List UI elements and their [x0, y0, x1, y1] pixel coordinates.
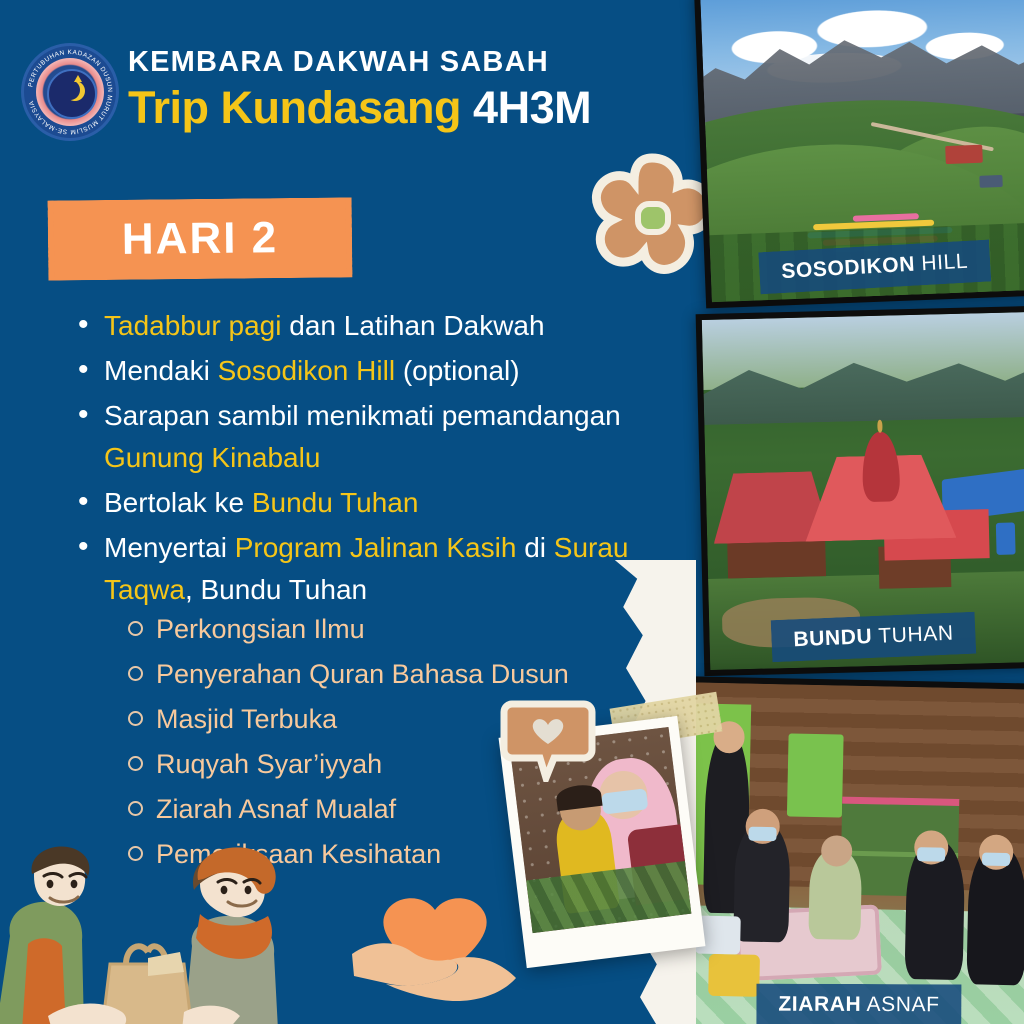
program-subitem: Penyerahan Quran Bahasa Dusun: [128, 653, 648, 695]
ziarah-asnaf-image: [686, 682, 1024, 1024]
crescent-star-icon: [60, 80, 80, 100]
agenda-plain: , Bundu Tuhan: [185, 574, 367, 605]
agenda-item: •Menyertai Program Jalinan Kasih di Sura…: [78, 527, 638, 611]
caption-light: ASNAF: [867, 993, 940, 1016]
agenda-item-text: Tadabbur pagi dan Latihan Dakwah: [104, 305, 545, 347]
hollow-bullet-icon: [128, 608, 156, 650]
agenda-plain: dan Latihan Dakwah: [281, 310, 544, 341]
agenda-plain: (optional): [395, 355, 520, 386]
program-subitem: Perkongsian Ilmu: [128, 608, 648, 650]
flower-icon: [588, 152, 716, 284]
caption-bold: ZIARAH: [778, 993, 861, 1016]
caption-light: HILL: [921, 250, 969, 276]
hollow-bullet-icon: [128, 653, 156, 695]
pdmms-logo: PERTUBUHAN KADAZAN DUSUN MURUT MUSLIM SE…: [24, 46, 116, 138]
page-title: Trip Kundasang 4H3M: [128, 85, 688, 130]
hand-holding-heart-icon: [350, 892, 520, 1016]
hollow-bullet-icon: [128, 743, 156, 785]
bullet-icon: •: [78, 350, 104, 390]
hollow-bullet-icon: [128, 788, 156, 830]
title-block: KEMBARA DAKWAH SABAH Trip Kundasang 4H3M: [128, 48, 688, 130]
organization-kicker: KEMBARA DAKWAH SABAH: [128, 48, 688, 77]
agenda-item: •Bertolak ke Bundu Tuhan: [78, 482, 638, 524]
agenda-highlight: Program Jalinan Kasih: [235, 532, 517, 563]
program-subitem-label: Ruqyah Syar’iyyah: [156, 743, 382, 785]
agenda-item-text: Menyertai Program Jalinan Kasih di Surau…: [104, 527, 638, 611]
bullet-icon: •: [78, 395, 104, 435]
program-subitem-label: Ziarah Asnaf Mualaf: [156, 788, 396, 830]
agenda-highlight: Sosodikon Hill: [218, 355, 395, 386]
bullet-icon: •: [78, 527, 104, 567]
agenda-list: •Tadabbur pagi dan Latihan Dakwah•Mendak…: [78, 305, 638, 614]
hollow-bullet-icon: [128, 698, 156, 740]
agenda-item: •Mendaki Sosodikon Hill (optional): [78, 350, 638, 392]
agenda-item: •Tadabbur pagi dan Latihan Dakwah: [78, 305, 638, 347]
agenda-item-text: Mendaki Sosodikon Hill (optional): [104, 350, 520, 392]
agenda-highlight: Gunung Kinabalu: [104, 442, 320, 473]
agenda-highlight: Tadabbur pagi: [104, 310, 281, 341]
program-subitem-label: Perkongsian Ilmu: [156, 608, 365, 650]
ziarah-asnaf-caption: ZIARAH ASNAF: [756, 984, 961, 1024]
bundu-tuhan-photo: BUNDU TUHAN: [696, 306, 1024, 676]
title-suffix: 4H3M: [473, 82, 591, 133]
agenda-item: •Sarapan sambil menikmati pemandangan Gu…: [78, 395, 638, 479]
bullet-icon: •: [78, 482, 104, 522]
caption-light: TUHAN: [878, 622, 954, 648]
speech-bubble-heart-icon: [500, 700, 596, 782]
bullet-icon: •: [78, 305, 104, 345]
agenda-plain: Mendaki: [104, 355, 218, 386]
sosodikon-hill-photo: SOSODIKON HILL: [694, 0, 1024, 308]
agenda-item-text: Bertolak ke Bundu Tuhan: [104, 482, 418, 524]
program-subitem-label: Penyerahan Quran Bahasa Dusun: [156, 653, 569, 695]
volunteers-illustration: [0, 840, 318, 1024]
agenda-plain: di: [516, 532, 553, 563]
day-badge: HARI 2: [48, 197, 353, 280]
poster-canvas: PERTUBUHAN KADAZAN DUSUN MURUT MUSLIM SE…: [0, 0, 1024, 1024]
title-main: Trip Kundasang: [128, 82, 461, 133]
agenda-plain: Menyertai: [104, 532, 235, 563]
agenda-plain: Bertolak ke: [104, 487, 252, 518]
agenda-plain: Sarapan sambil menikmati pemandangan: [104, 400, 621, 431]
bundu-tuhan-caption: BUNDU TUHAN: [771, 612, 977, 663]
poster-header: PERTUBUHAN KADAZAN DUSUN MURUT MUSLIM SE…: [0, 30, 700, 150]
ziarah-asnaf-photo: ZIARAH ASNAF: [680, 676, 1024, 1024]
day-badge-label: HARI 2: [122, 213, 279, 265]
agenda-highlight: Bundu Tuhan: [252, 487, 419, 518]
agenda-item-text: Sarapan sambil menikmati pemandangan Gun…: [104, 395, 638, 479]
program-subitem-label: Masjid Terbuka: [156, 698, 337, 740]
caption-bold: BUNDU: [793, 625, 873, 651]
caption-bold: SOSODIKON: [781, 253, 916, 283]
